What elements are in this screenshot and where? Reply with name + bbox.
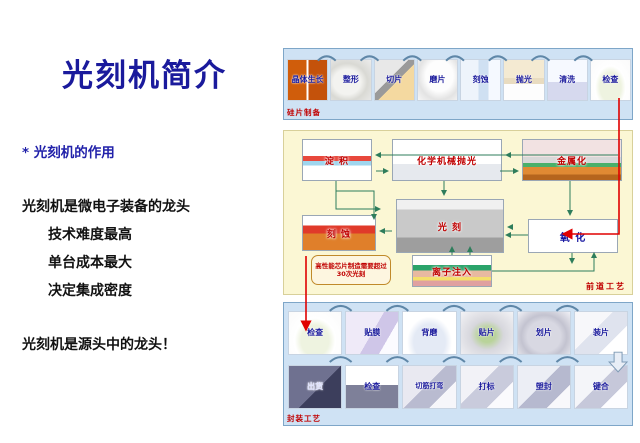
wafer-preparation-panel: 晶体生长 整形 切片 磨片 刻蚀 <box>283 48 633 120</box>
pkg-step-tape-lamination[interactable]: 贴膜 <box>345 311 399 355</box>
step-label: 切筋打弯 <box>415 383 443 390</box>
process-label: 刻 蚀 <box>327 227 351 240</box>
step-label: 出货 <box>307 383 323 391</box>
step-crystal-growth[interactable]: 晶体生长 <box>287 59 328 101</box>
step-label: 清洗 <box>559 76 575 84</box>
process-label: 离子注入 <box>432 265 472 278</box>
step-lapping[interactable]: 磨片 <box>417 59 458 101</box>
body-line-2: 技术难度最高 <box>48 224 132 244</box>
process-cmp[interactable]: 化学机械抛光 <box>392 139 502 181</box>
pkg-step-die-mount[interactable]: 装片 <box>574 311 628 355</box>
step-label: 检查 <box>364 383 380 391</box>
step-label: 切片 <box>386 76 402 84</box>
body-line-1: 光刻机是微电子装备的龙头 <box>22 196 190 216</box>
step-wafer-slicing[interactable]: 切片 <box>374 59 415 101</box>
process-metallization[interactable]: 金属化 <box>522 139 622 181</box>
process-flow-diagram: 晶体生长 整形 切片 磨片 刻蚀 <box>283 44 636 434</box>
wafer-prep-section-label: 硅片制备 <box>287 107 321 118</box>
step-inspection[interactable]: 检查 <box>590 59 631 101</box>
body-line-3: 单台成本最大 <box>48 252 132 272</box>
step-label: 检查 <box>307 329 323 337</box>
step-label: 键合 <box>593 383 609 391</box>
step-label: 贴膜 <box>364 329 380 337</box>
process-label: 光 刻 <box>438 220 462 233</box>
packaging-steps-row-1: 检查 贴膜 背磨 贴片 划片 <box>288 311 628 355</box>
slide-text-column: 光刻机简介 * 光刻机的作用 光刻机是微电子装备的龙头 技术难度最高 单台成本最… <box>0 0 283 443</box>
front-end-process-panel: 淀 积 化学机械抛光 金属化 刻 蚀 光 刻 氧 化 <box>283 130 633 295</box>
slide-canvas: 光刻机简介 * 光刻机的作用 光刻机是微电子装备的龙头 技术难度最高 单台成本最… <box>0 0 640 443</box>
process-deposition[interactable]: 淀 积 <box>302 139 372 181</box>
pkg-step-inspection[interactable]: 检查 <box>288 311 342 355</box>
body-line-5: 光刻机是源头中的龙头！ <box>22 334 176 354</box>
body-line-4: 决定集成密度 <box>48 280 132 300</box>
packaging-steps-row-2: 出货 检查 切筋打弯 打标 塑封 <box>288 365 628 409</box>
step-label: 塑封 <box>536 383 552 391</box>
step-label: 整形 <box>343 76 359 84</box>
process-etch[interactable]: 刻 蚀 <box>302 215 376 251</box>
step-polishing[interactable]: 抛光 <box>503 59 544 101</box>
step-label: 检查 <box>602 76 618 84</box>
packaging-section-label: 封装工艺 <box>287 413 321 424</box>
step-label: 打标 <box>479 383 495 391</box>
process-label: 化学机械抛光 <box>417 154 477 167</box>
pkg-step-die-attach[interactable]: 贴片 <box>460 311 514 355</box>
process-label: 氧 化 <box>560 229 586 244</box>
step-label: 背磨 <box>421 329 437 337</box>
step-cleaning[interactable]: 清洗 <box>547 59 588 101</box>
step-label: 装片 <box>593 329 609 337</box>
pkg-step-wire-bonding[interactable]: 键合 <box>574 365 628 409</box>
process-ion-implant[interactable]: 离子注入 <box>412 255 492 287</box>
lithography-callout: 高性能芯片制造需要超过30次光刻 <box>311 255 391 285</box>
step-etching[interactable]: 刻蚀 <box>460 59 501 101</box>
process-label: 淀 积 <box>325 154 349 167</box>
step-label: 磨片 <box>429 76 445 84</box>
pkg-step-molding[interactable]: 塑封 <box>517 365 571 409</box>
step-label: 贴片 <box>479 329 495 337</box>
packaging-process-panel: 检查 贴膜 背磨 贴片 划片 <box>283 302 633 426</box>
page-title: 光刻机简介 <box>62 50 227 95</box>
step-label: 晶体生长 <box>292 76 324 84</box>
pkg-step-final-test[interactable]: 检查 <box>345 365 399 409</box>
step-label: 刻蚀 <box>473 76 489 84</box>
wafer-preparation-steps: 晶体生长 整形 切片 磨片 刻蚀 <box>287 59 631 101</box>
pkg-step-trim-form[interactable]: 切筋打弯 <box>402 365 456 409</box>
front-end-section-label: 前道工艺 <box>586 281 626 292</box>
step-ingot-shaping[interactable]: 整形 <box>330 59 371 101</box>
pkg-step-marking[interactable]: 打标 <box>460 365 514 409</box>
process-label: 金属化 <box>557 154 587 167</box>
step-label: 抛光 <box>516 76 532 84</box>
step-label: 划片 <box>536 329 552 337</box>
process-lithography[interactable]: 光 刻 <box>396 199 504 253</box>
pkg-step-wafer-saw[interactable]: 划片 <box>517 311 571 355</box>
process-oxidation[interactable]: 氧 化 <box>528 219 618 253</box>
pkg-step-back-grinding[interactable]: 背磨 <box>402 311 456 355</box>
pkg-step-shipping[interactable]: 出货 <box>288 365 342 409</box>
bullet-heading: * 光刻机的作用 <box>22 141 115 161</box>
